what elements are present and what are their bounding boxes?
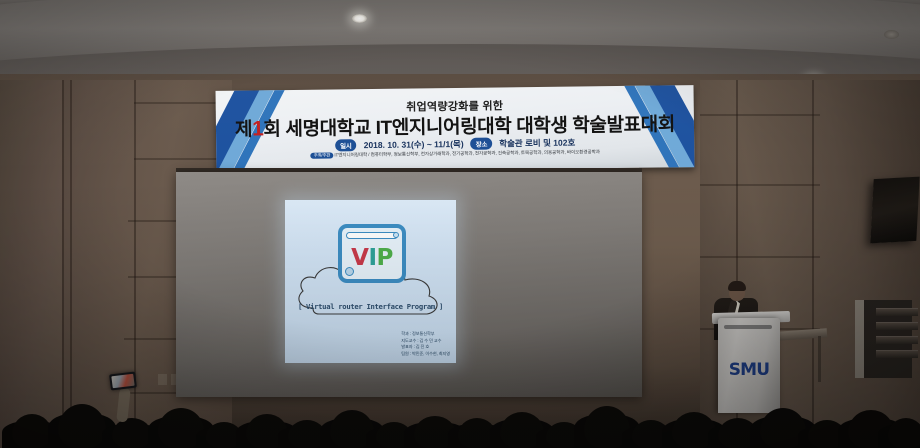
- audience-member-head: [58, 404, 106, 448]
- banner-place-pill: 장소: [471, 138, 493, 150]
- smartphone-screen: [111, 374, 134, 389]
- ceiling-downlight: [352, 14, 367, 23]
- ceiling-downlight: [884, 30, 899, 39]
- vip-letter-i: I: [368, 245, 376, 271]
- rack-unit: [876, 322, 918, 330]
- slide-caption: [ Virtual router Interface Program ]: [285, 302, 456, 311]
- wall-seam: [700, 184, 820, 186]
- audience-member-head: [12, 414, 52, 448]
- audience-member-head: [112, 418, 152, 448]
- banner-host-pill: 주최/주관: [311, 152, 333, 158]
- smartphone: [109, 371, 137, 390]
- banner-ordinal-number: 1: [252, 117, 264, 140]
- banner-ordinal-prefix: 제: [235, 119, 252, 140]
- presenter-hair: [728, 281, 746, 291]
- banner-place-text: 학술관 로비 및 102호: [499, 137, 575, 150]
- projected-slide: VIP [ Virtual router Interface Program ]…: [285, 200, 456, 363]
- browser-button-icon: [393, 232, 399, 238]
- wall-seam: [700, 114, 820, 116]
- browser-badge-icon: [345, 267, 354, 276]
- banner-ordinal-suffix: 회: [263, 119, 280, 140]
- event-banner: 취업역량강화를 위한 제1회 세명대학교 IT엔지니어링대학 대학생 학술발표대…: [216, 85, 695, 173]
- banner-date-pill: 일시: [335, 139, 357, 151]
- wall-seam: [700, 256, 820, 258]
- vip-letter-p: P: [377, 245, 393, 271]
- browser-address-bar: [346, 232, 398, 239]
- conference-hall-photo: 취업역량강화를 위한 제1회 세명대학교 IT엔지니어링대학 대학생 학술발표대…: [0, 0, 920, 448]
- browser-window-icon: VIP: [338, 224, 406, 283]
- wall-speaker: [870, 177, 919, 244]
- audience-member-head: [888, 418, 920, 448]
- banner-date-text: 2018. 10. 31(수) ~ 11/1(목): [364, 138, 464, 151]
- vip-letter-v: V: [351, 245, 368, 271]
- rack-unit: [876, 308, 918, 316]
- podium-slot: [724, 325, 772, 329]
- audience: [0, 340, 920, 448]
